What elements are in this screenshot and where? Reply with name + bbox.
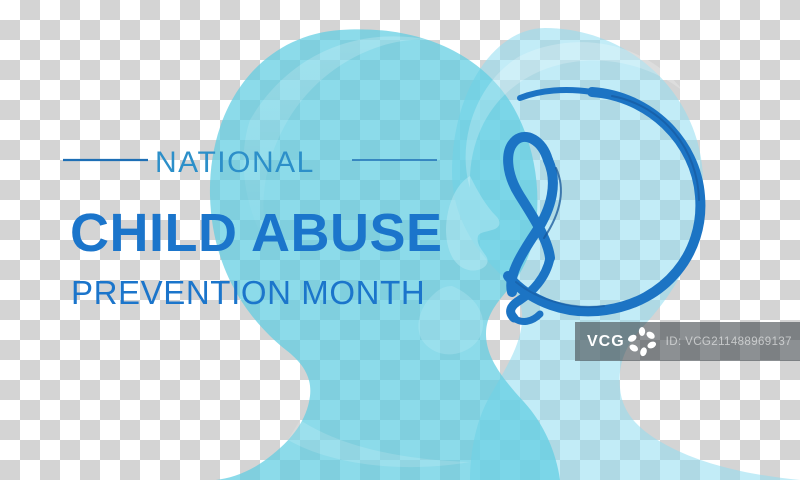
vcg-brand-label: VCG — [587, 334, 625, 350]
poster-artwork: NATIONAL CHILD ABUSE PREVENTION MONTH — [0, 0, 800, 480]
vcg-asset-id: ID: VCG211488969137 — [666, 336, 792, 348]
eyebrow-text: NATIONAL — [155, 146, 315, 179]
subhead-text: PREVENTION MONTH — [71, 274, 425, 311]
vcg-burst-icon — [627, 327, 657, 357]
poster-canvas: NATIONAL CHILD ABUSE PREVENTION MONTH VC… — [0, 0, 800, 480]
vcg-watermark-bar: VCG ID: VCG211488969137 — [575, 322, 800, 361]
headline-text: CHILD ABUSE — [70, 203, 443, 263]
